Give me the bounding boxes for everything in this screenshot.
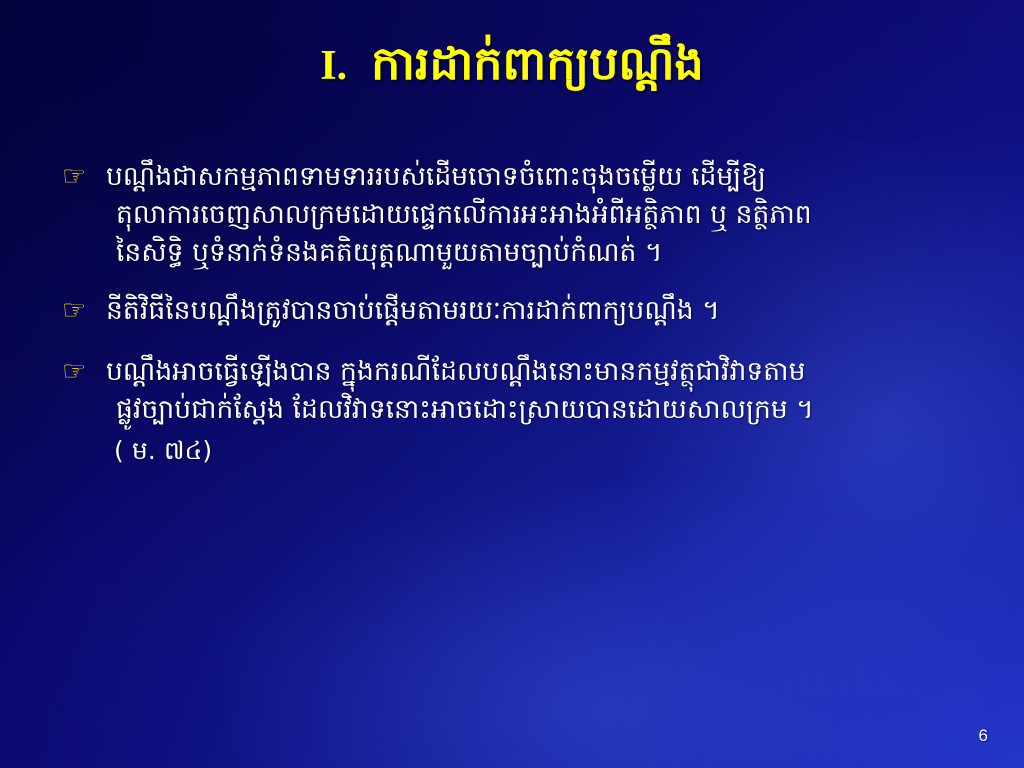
slide-title: I.ការដាក់ពាក្យបណ្ដឹង (0, 38, 1024, 90)
bullet-line: បណ្ដឹងអាចធ្វើឡើងបាន ក្នុងករណីដែលបណ្ដឹងនោ… (106, 353, 972, 391)
pointing-hand-icon: ☞ (62, 298, 96, 324)
presentation-slide: I.ការដាក់ពាក្យបណ្ដឹង ☞ បណ្ដឹងជាសកម្មភាពទ… (0, 0, 1024, 768)
bullet-text: បណ្ដឹងជាសកម្មភាពទាមទាររបស់ដើមចោទចំពោះចុង… (106, 158, 972, 272)
slide-body: ☞ បណ្ដឹងជាសកម្មភាពទាមទាររបស់ដើមចោទចំពោះច… (62, 158, 972, 489)
bullet-text: បណ្ដឹងអាចធ្វើឡើងបាន ក្នុងករណីដែលបណ្ដឹងនោ… (106, 353, 972, 469)
pointing-hand-icon: ☞ (62, 164, 96, 190)
bullet-item: ☞ នីតិវិធីនៃបណ្ដឹងត្រូវបានចាប់ផ្ដើមតាមរយ… (62, 292, 972, 330)
bullet-item: ☞ បណ្ដឹងអាចធ្វើឡើងបាន ក្នុងករណីដែលបណ្ដឹង… (62, 353, 972, 469)
bullet-line: ផ្លូវច្បាប់ជាក់ស្ដែង ដែលវិវាទនោះអាចដោះស្… (106, 391, 972, 429)
slide-title-text: ការដាក់ពាក្យបណ្ដឹង (371, 36, 704, 90)
bullet-line: បណ្ដឹងជាសកម្មភាពទាមទាររបស់ដើមចោទចំពោះចុង… (106, 158, 972, 196)
bullet-item: ☞ បណ្ដឹងជាសកម្មភាពទាមទាររបស់ដើមចោទចំពោះច… (62, 158, 972, 272)
bullet-text: នីតិវិធីនៃបណ្ដឹងត្រូវបានចាប់ផ្ដើមតាមរយៈក… (106, 292, 972, 330)
bullet-line: នៃសិទ្ធិ ឬទំនាក់ទំនងគតិយុត្តណាមួយតាមច្បា… (106, 234, 972, 272)
bullet-line: នីតិវិធីនៃបណ្ដឹងត្រូវបានចាប់ផ្ដើមតាមរយៈក… (106, 292, 972, 330)
slide-content: I.ការដាក់ពាក្យបណ្ដឹង ☞ បណ្ដឹងជាសកម្មភាពទ… (0, 0, 1024, 768)
pointing-hand-icon: ☞ (62, 359, 96, 385)
bullet-line: តុលាការចេញសាលក្រមដោយផ្ទេកលើការអះអាងអំពីអ… (106, 196, 972, 234)
bullet-citation: ( ម. ៧៤) (106, 433, 972, 469)
slide-title-numeral: I. (320, 43, 347, 89)
page-number: 6 (979, 726, 988, 746)
